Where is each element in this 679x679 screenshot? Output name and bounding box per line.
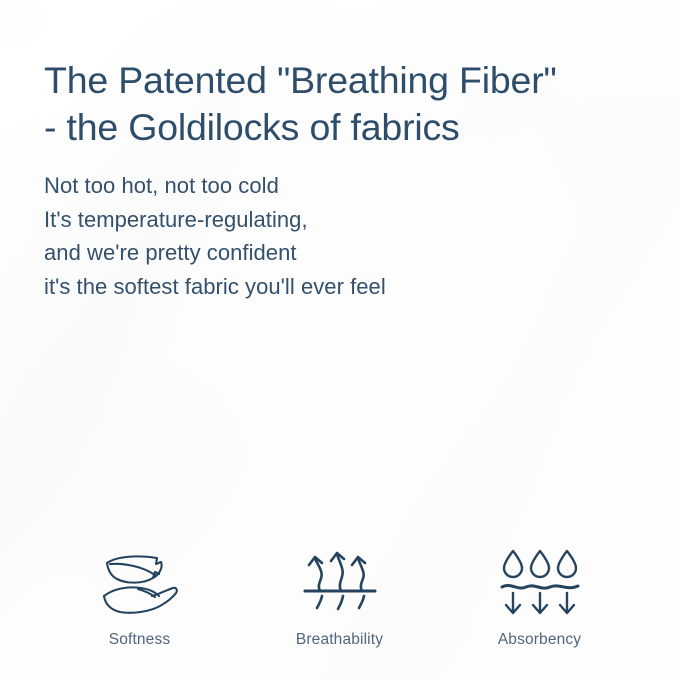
feature-label: Absorbency: [498, 631, 581, 649]
feature-item-absorbency: Absorbency: [452, 545, 627, 649]
water-droplets-absorb-icon: [497, 545, 583, 617]
feature-list: Softness: [52, 545, 627, 649]
feature-item-breathability: Breathability: [252, 545, 427, 649]
feature-label: Breathability: [296, 631, 383, 649]
banner-content: The Patented "Breathing Fiber" - the Gol…: [0, 0, 679, 679]
page-title: The Patented "Breathing Fiber" - the Gol…: [44, 57, 654, 151]
rising-air-arrows-icon: [300, 545, 380, 617]
feature-label: Softness: [109, 631, 171, 649]
feather-in-hand-icon: [97, 545, 183, 617]
product-feature-banner: The Patented "Breathing Fiber" - the Gol…: [0, 0, 679, 679]
feature-item-softness: Softness: [52, 545, 227, 649]
hero-description: Not too hot, not too cold It's temperatu…: [44, 169, 604, 303]
